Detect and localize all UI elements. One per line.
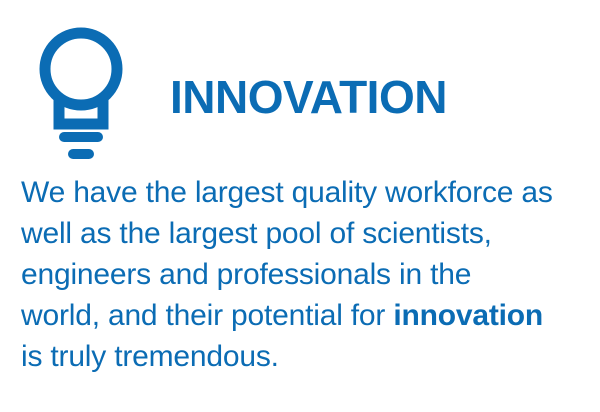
- body-line-text: well as the largest pool of scientists,: [21, 217, 492, 250]
- lightbulb-icon: [34, 22, 130, 162]
- body-line-emphasis: innovation: [393, 299, 543, 332]
- body-line-text: is truly tremendous.: [21, 340, 279, 373]
- header-block: INNOVATION: [0, 0, 600, 170]
- body-line-text: engineers and professionals in the: [21, 258, 471, 291]
- body-paragraph: We have the largest quality workforce as…: [21, 172, 591, 377]
- body-line: engineers and professionals in the: [21, 254, 591, 295]
- body-line: world, and their potential for innovatio…: [21, 295, 591, 336]
- innovation-callout-card: INNOVATION We have the largest quality w…: [0, 0, 600, 412]
- body-line: We have the largest quality workforce as: [21, 172, 591, 213]
- body-line-text: We have the largest quality workforce as: [21, 176, 553, 209]
- body-line: is truly tremendous.: [21, 336, 591, 377]
- body-line-text: world, and their potential for: [21, 299, 393, 332]
- page-title: INNOVATION: [170, 72, 447, 122]
- body-line: well as the largest pool of scientists,: [21, 213, 591, 254]
